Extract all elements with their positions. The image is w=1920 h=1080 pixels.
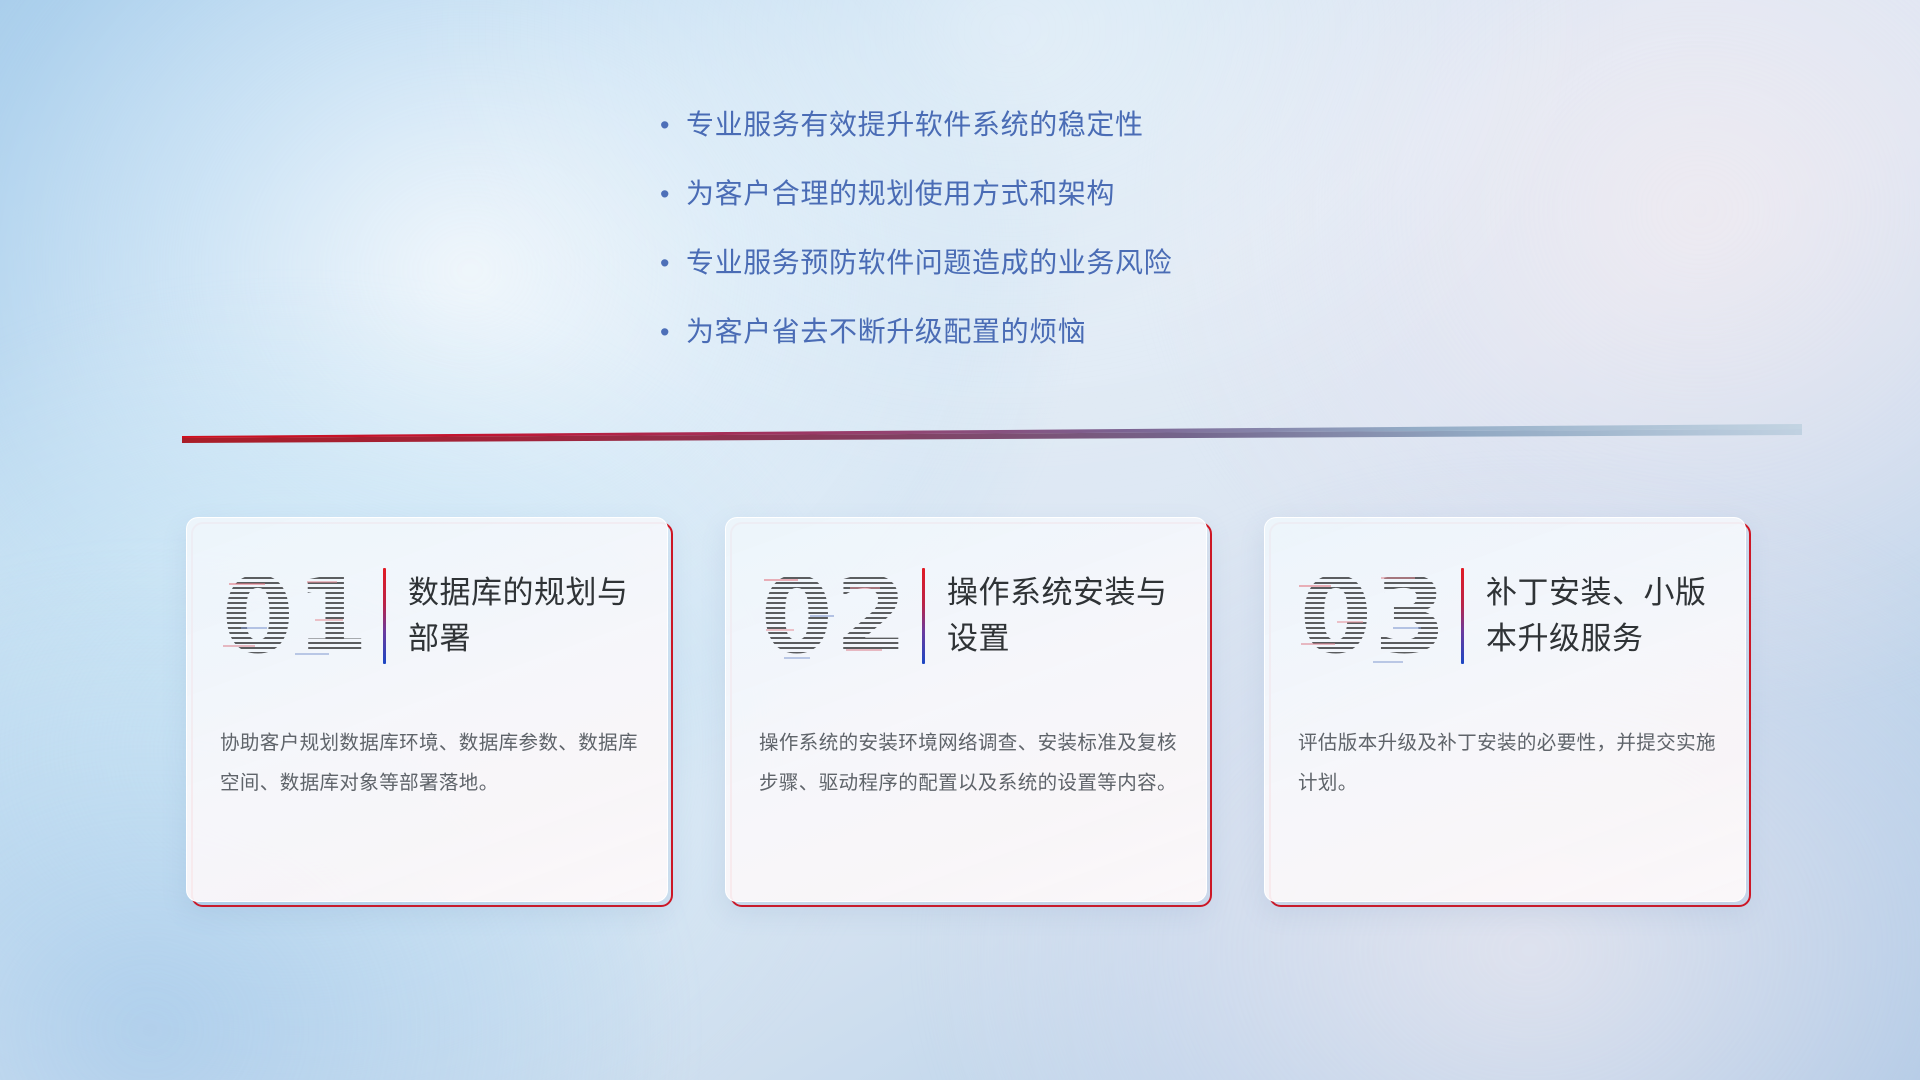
- card-body-text: 协助客户规划数据库环境、数据库参数、数据库空间、数据库对象等部署落地。: [220, 723, 638, 803]
- bullet-dot-icon: •: [660, 244, 686, 282]
- card-title: 补丁安装、小版本升级服务: [1486, 570, 1746, 662]
- card-index-number: 01: [211, 557, 381, 675]
- card-index-value: 03: [1300, 557, 1449, 675]
- card-gradient-rule: [922, 568, 925, 664]
- benefits-bullet-list: • 专业服务有效提升软件系统的稳定性 • 为客户合理的规划使用方式和架构 • 专…: [660, 106, 1560, 382]
- bullet-text: 为客户合理的规划使用方式和架构: [686, 175, 1115, 213]
- list-item: • 专业服务预防软件问题造成的业务风险: [660, 244, 1560, 282]
- bullet-dot-icon: •: [660, 175, 686, 213]
- card-index-value: 02: [761, 557, 910, 675]
- bullet-text: 专业服务预防软件问题造成的业务风险: [686, 244, 1172, 282]
- card-body-text: 操作系统的安装环境网络调查、安装标准及复核步骤、驱动程序的配置以及系统的设置等内…: [759, 723, 1177, 803]
- service-card[interactable]: 01 数据库的规划与部署 协助客户规划数据库环境、数据库参数、数据库空间、数据库…: [186, 517, 668, 902]
- bullet-text: 为客户省去不断升级配置的烦恼: [686, 313, 1086, 351]
- service-card-row: 01 数据库的规划与部署 协助客户规划数据库环境、数据库参数、数据库空间、数据库…: [186, 517, 1746, 902]
- service-card[interactable]: 03 补丁安装、小版本升级服务 评估版本升级及补丁安装的必要性，并提交实施计划。: [1264, 517, 1746, 902]
- card-title: 操作系统安装与设置: [947, 570, 1207, 662]
- card-index-number: 03: [1289, 557, 1459, 675]
- bullet-dot-icon: •: [660, 106, 686, 144]
- service-card[interactable]: 02 操作系统安装与设置 操作系统的安装环境网络调查、安装标准及复核步骤、驱动程…: [725, 517, 1207, 902]
- card-gradient-rule: [383, 568, 386, 664]
- list-item: • 为客户合理的规划使用方式和架构: [660, 175, 1560, 213]
- bullet-dot-icon: •: [660, 313, 686, 351]
- gradient-wedge-divider-icon: [182, 424, 1802, 446]
- card-surface: 01 数据库的规划与部署 协助客户规划数据库环境、数据库参数、数据库空间、数据库…: [186, 517, 668, 902]
- card-surface: 02 操作系统安装与设置 操作系统的安装环境网络调查、安装标准及复核步骤、驱动程…: [725, 517, 1207, 902]
- card-header: 01 数据库的规划与部署: [187, 518, 668, 714]
- card-index-value: 01: [222, 557, 371, 675]
- card-title: 数据库的规划与部署: [408, 570, 668, 662]
- card-body-text: 评估版本升级及补丁安装的必要性，并提交实施计划。: [1298, 723, 1716, 803]
- slide-canvas: • 专业服务有效提升软件系统的稳定性 • 为客户合理的规划使用方式和架构 • 专…: [0, 0, 1920, 1080]
- list-item: • 专业服务有效提升软件系统的稳定性: [660, 106, 1560, 144]
- card-gradient-rule: [1461, 568, 1464, 664]
- list-item: • 为客户省去不断升级配置的烦恼: [660, 313, 1560, 351]
- card-header: 03 补丁安装、小版本升级服务: [1265, 518, 1746, 714]
- bullet-text: 专业服务有效提升软件系统的稳定性: [686, 106, 1144, 144]
- card-index-number: 02: [750, 557, 920, 675]
- card-surface: 03 补丁安装、小版本升级服务 评估版本升级及补丁安装的必要性，并提交实施计划。: [1264, 517, 1746, 902]
- card-header: 02 操作系统安装与设置: [726, 518, 1207, 714]
